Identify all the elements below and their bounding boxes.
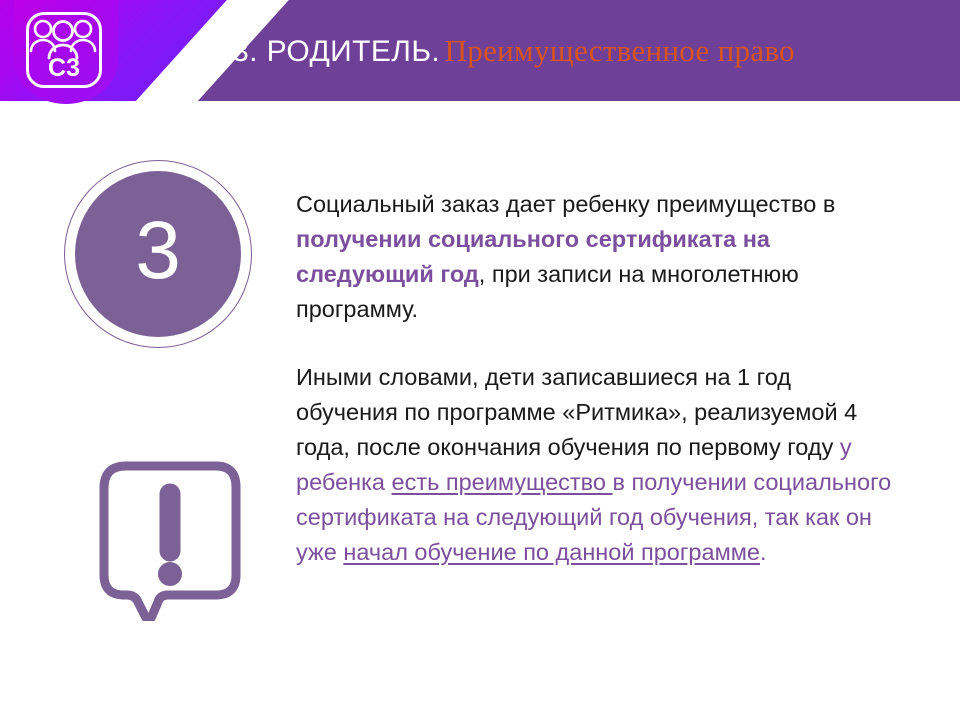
- exclamation-speech-bubble-icon: [82, 456, 242, 621]
- s3-people-logo: С3: [14, 0, 118, 104]
- slide-title-main: С3. РОДИТЕЛЬ.: [210, 35, 440, 68]
- paragraph-1: Социальный заказ дает ребенку преимущест…: [296, 187, 896, 327]
- paragraph-2-underline-1: есть преимущество: [392, 469, 613, 495]
- logo-badge-text: С3: [26, 56, 102, 81]
- paragraph-2: Иными словами, дети записавшиеся на 1 го…: [296, 360, 896, 570]
- paragraph-2-segment-6: .: [760, 539, 767, 565]
- paragraph-2-underline-2: начал обучение по данной программе: [343, 539, 760, 565]
- step-number-label: 3: [64, 160, 252, 348]
- step-number-marker: 3: [64, 160, 252, 348]
- slide-body-text: Социальный заказ дает ребенку преимущест…: [296, 187, 896, 570]
- paragraph-1-segment-1: Социальный заказ дает ребенку преимущест…: [296, 191, 835, 217]
- paragraph-2-segment-1: Иными словами, дети записавшиеся на 1 го…: [296, 364, 857, 460]
- slide-title-accent: Преимущественное право: [445, 33, 795, 68]
- slide-title: С3. РОДИТЕЛЬ. Преимущественное право: [210, 33, 795, 69]
